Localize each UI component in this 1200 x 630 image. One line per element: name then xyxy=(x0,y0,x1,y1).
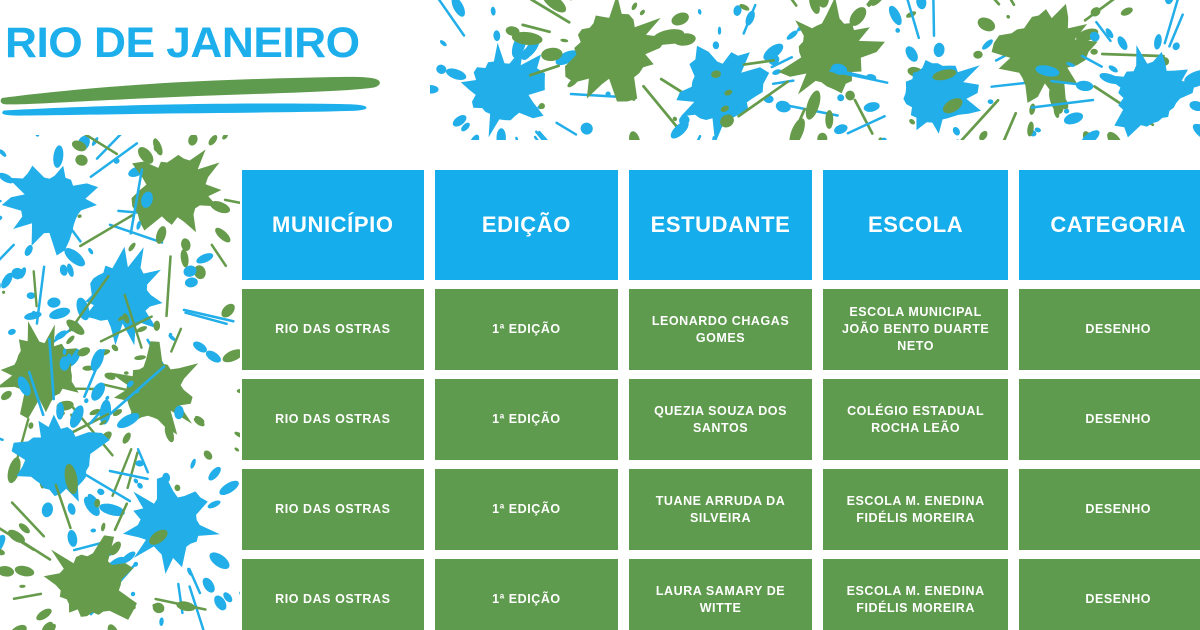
page-title: RIO DE JANEIRO xyxy=(5,20,360,66)
cell-estudante: LEONARDO CHAGAS GOMES xyxy=(629,289,812,370)
table-row: RIO DAS OSTRAS 1ª EDIÇÃO LEONARDO CHAGAS… xyxy=(242,289,1200,370)
cell-municipio: RIO DAS OSTRAS xyxy=(242,559,424,630)
table-row: RIO DAS OSTRAS 1ª EDIÇÃO LAURA SAMARY DE… xyxy=(242,559,1200,630)
cell-escola: ESCOLA MUNICIPAL JOÃO BENTO DUARTE NETO xyxy=(823,289,1009,370)
table-row: RIO DAS OSTRAS 1ª EDIÇÃO TUANE ARRUDA DA… xyxy=(242,469,1200,550)
paint-splatter-column-left-icon xyxy=(0,135,240,630)
cell-estudante: TUANE ARRUDA DA SILVEIRA xyxy=(629,469,812,550)
cell-estudante: QUEZIA SOUZA DOS SANTOS xyxy=(629,379,812,460)
cell-escola: COLÉGIO ESTADUAL ROCHA LEÃO xyxy=(823,379,1009,460)
results-table: MUNICÍPIO EDIÇÃO ESTUDANTE ESCOLA CATEGO… xyxy=(242,170,1200,630)
cell-categoria: DESENHO xyxy=(1019,379,1200,460)
column-header-escola: ESCOLA xyxy=(823,170,1009,280)
cell-categoria: DESENHO xyxy=(1019,289,1200,370)
column-header-estudante: ESTUDANTE xyxy=(629,170,812,280)
table-header-row: MUNICÍPIO EDIÇÃO ESTUDANTE ESCOLA CATEGO… xyxy=(242,170,1200,280)
table-row: RIO DAS OSTRAS 1ª EDIÇÃO QUEZIA SOUZA DO… xyxy=(242,379,1200,460)
title-brush-underline-icon xyxy=(0,64,390,116)
title-block: RIO DE JANEIRO xyxy=(0,12,400,112)
column-header-municipio: MUNICÍPIO xyxy=(242,170,424,280)
cell-estudante: LAURA SAMARY DE WITTE xyxy=(629,559,812,630)
cell-municipio: RIO DAS OSTRAS xyxy=(242,379,424,460)
cell-escola: ESCOLA M. ENEDINA FIDÉLIS MOREIRA xyxy=(823,559,1009,630)
cell-edicao: 1ª EDIÇÃO xyxy=(435,289,619,370)
page-root: RIO DE JANEIRO MUNICÍPIO EDIÇÃO ESTUDANT… xyxy=(0,0,1200,630)
cell-escola: ESCOLA M. ENEDINA FIDÉLIS MOREIRA xyxy=(823,469,1009,550)
cell-categoria: DESENHO xyxy=(1019,469,1200,550)
paint-splatter-strip-top-icon xyxy=(430,0,1200,140)
cell-edicao: 1ª EDIÇÃO xyxy=(435,469,619,550)
cell-edicao: 1ª EDIÇÃO xyxy=(435,379,619,460)
cell-municipio: RIO DAS OSTRAS xyxy=(242,469,424,550)
cell-edicao: 1ª EDIÇÃO xyxy=(435,559,619,630)
column-header-categoria: CATEGORIA xyxy=(1019,170,1200,280)
cell-municipio: RIO DAS OSTRAS xyxy=(242,289,424,370)
cell-categoria: DESENHO xyxy=(1019,559,1200,630)
column-header-edicao: EDIÇÃO xyxy=(435,170,619,280)
